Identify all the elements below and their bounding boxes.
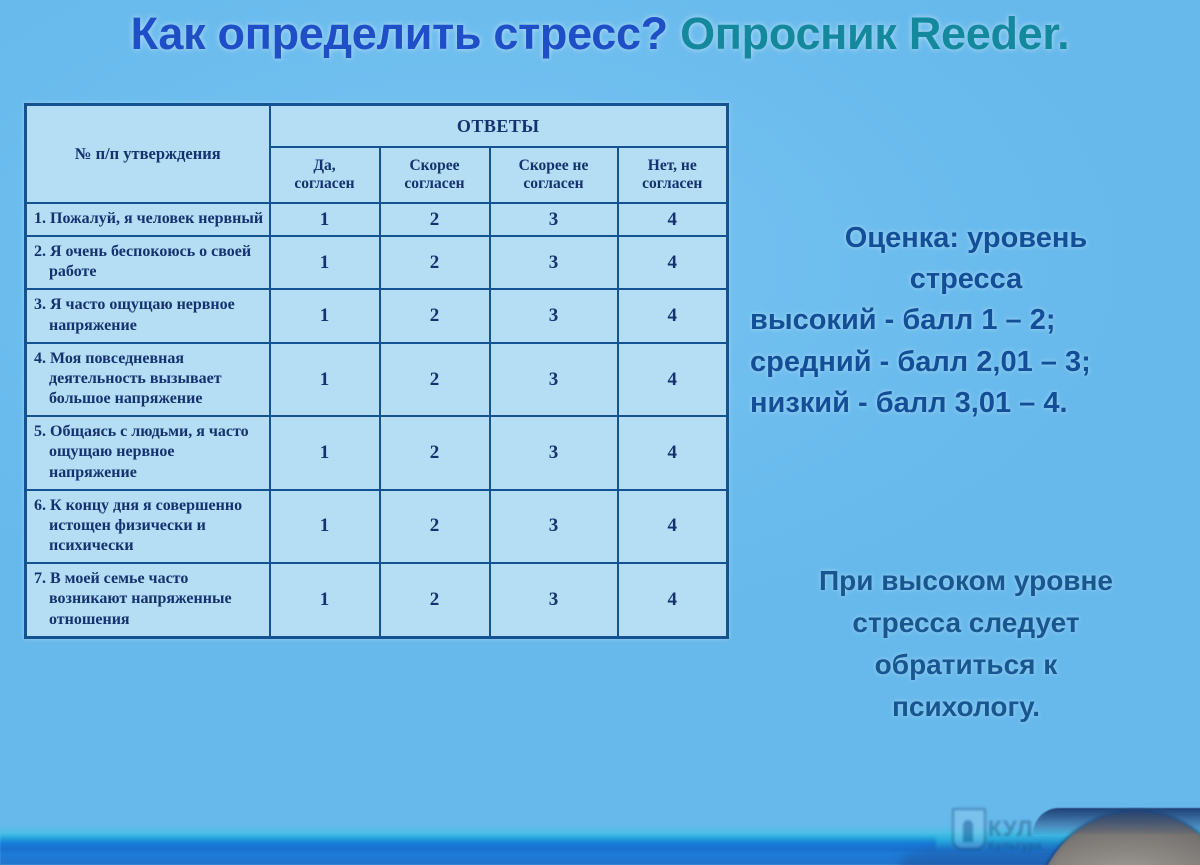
statement-cell: 7. В моей семье часто возникают напряжен… — [26, 563, 270, 637]
page-title: Как определить стресс? Опросник Reeder. — [0, 8, 1200, 60]
table-row: 7. В моей семье часто возникают напряжен… — [26, 563, 728, 637]
page-title-primary: Как определить стресс? — [131, 8, 680, 59]
statement-cell: 4. Моя повседневная деятельность вызывае… — [26, 343, 270, 416]
answer-value-cell: 4 — [618, 203, 728, 236]
answer-value-cell: 4 — [618, 236, 728, 289]
table-body: 1. Пожалуй, я человек нервный12342. Я оч… — [26, 203, 728, 637]
advice-line-2: стресса следует — [742, 602, 1190, 644]
answer-value-cell: 1 — [270, 563, 380, 637]
answer-value-cell: 2 — [380, 343, 490, 416]
header-statement-column: № п/п утверждения — [26, 105, 270, 204]
table-row: 2. Я очень беспокоюсь о своей работе1234 — [26, 236, 728, 289]
evaluation-panel: Оценка: уровень стресса высокий - балл 1… — [742, 218, 1190, 424]
evaluation-level-low: низкий - балл 3,01 – 4. — [742, 383, 1190, 424]
advice-line-1: При высоком уровне — [742, 560, 1190, 602]
table-row: 3. Я часто ощущаю нервное напряжение1234 — [26, 289, 728, 342]
answer-value-cell: 4 — [618, 289, 728, 342]
bottom-decorative-band-secondary — [0, 835, 936, 851]
watermark-subtext: Культура — [988, 840, 1042, 852]
page-title-secondary: Опросник Reeder. — [680, 8, 1069, 59]
statement-cell: 1. Пожалуй, я человек нервный — [26, 203, 270, 236]
answer-value-cell: 2 — [380, 563, 490, 637]
answer-value-cell: 2 — [380, 416, 490, 489]
answer-value-cell: 1 — [270, 490, 380, 563]
statement-cell: 2. Я очень беспокоюсь о своей работе — [26, 236, 270, 289]
header-answers-group: ОТВЕТЫ — [270, 105, 728, 148]
header-answer-col-1: Скорее согласен — [380, 147, 490, 203]
answer-value-cell: 1 — [270, 416, 380, 489]
answer-value-cell: 3 — [490, 289, 618, 342]
header-answer-col-1-line2: согласен — [404, 175, 464, 192]
header-answer-col-0-line1: Да, — [313, 157, 335, 174]
shield-icon — [952, 808, 986, 850]
header-answer-col-2-line1: Скорее не — [519, 157, 589, 174]
header-answer-col-0: Да, согласен — [270, 147, 380, 203]
answer-value-cell: 1 — [270, 203, 380, 236]
header-answer-col-2-line2: согласен — [523, 175, 583, 192]
answer-value-cell: 3 — [490, 236, 618, 289]
answer-value-cell: 1 — [270, 343, 380, 416]
table-header-row-group: № п/п утверждения ОТВЕТЫ — [26, 105, 728, 148]
statement-cell: 3. Я часто ощущаю нервное напряжение — [26, 289, 270, 342]
advice-line-4: психологу. — [742, 686, 1190, 728]
evaluation-level-medium: средний - балл 2,01 – 3; — [742, 342, 1190, 383]
answer-value-cell: 4 — [618, 343, 728, 416]
answer-value-cell: 3 — [490, 563, 618, 637]
statement-text: 6. К концу дня я совершенно истощен физи… — [34, 496, 265, 556]
table-row: 1. Пожалуй, я человек нервный1234 — [26, 203, 728, 236]
table-row: 4. Моя повседневная деятельность вызывае… — [26, 343, 728, 416]
header-answer-col-3: Нет, не согласен — [618, 147, 728, 203]
answer-value-cell: 3 — [490, 343, 618, 416]
advice-panel: При высоком уровне стресса следует обрат… — [742, 560, 1190, 728]
advice-line-3: обратиться к — [742, 644, 1190, 686]
header-answer-col-2: Скорее не согласен — [490, 147, 618, 203]
evaluation-heading-line1: Оценка: уровень — [742, 218, 1190, 259]
answer-value-cell: 1 — [270, 289, 380, 342]
slide-canvas: Как определить стресс? Опросник Reeder. … — [0, 0, 1200, 865]
evaluation-level-high: высокий - балл 1 – 2; — [742, 300, 1190, 341]
header-answer-col-0-line2: согласен — [294, 175, 354, 192]
answer-value-cell: 4 — [618, 416, 728, 489]
answer-value-cell: 1 — [270, 236, 380, 289]
watermark-text: КУЛ — [988, 816, 1033, 842]
statement-text: 3. Я часто ощущаю нервное напряжение — [34, 295, 265, 335]
answer-value-cell: 2 — [380, 236, 490, 289]
answer-value-cell: 4 — [618, 490, 728, 563]
statement-text: 4. Моя повседневная деятельность вызывае… — [34, 349, 265, 409]
header-answer-col-3-line2: согласен — [642, 175, 702, 192]
statement-text: 2. Я очень беспокоюсь о своей работе — [34, 242, 265, 282]
reeder-questionnaire-table: № п/п утверждения ОТВЕТЫ Да, согласен Ск… — [24, 103, 729, 639]
answer-value-cell: 3 — [490, 416, 618, 489]
answer-value-cell: 3 — [490, 203, 618, 236]
answer-value-cell: 4 — [618, 563, 728, 637]
answer-value-cell: 3 — [490, 490, 618, 563]
table-row: 5. Общаясь с людьми, я часто ощущаю нерв… — [26, 416, 728, 489]
answer-value-cell: 2 — [380, 203, 490, 236]
statement-text: 1. Пожалуй, я человек нервный — [34, 209, 265, 229]
statement-cell: 5. Общаясь с людьми, я часто ощущаю нерв… — [26, 416, 270, 489]
statement-text: 5. Общаясь с людьми, я часто ощущаю нерв… — [34, 422, 265, 482]
header-answer-col-1-line1: Скорее — [409, 157, 459, 174]
evaluation-heading-line2: стресса — [742, 259, 1190, 300]
answer-value-cell: 2 — [380, 490, 490, 563]
statement-cell: 6. К концу дня я совершенно истощен физи… — [26, 490, 270, 563]
answer-value-cell: 2 — [380, 289, 490, 342]
table-row: 6. К концу дня я совершенно истощен физи… — [26, 490, 728, 563]
header-answer-col-3-line1: Нет, не — [648, 157, 697, 174]
statement-text: 7. В моей семье часто возникают напряжен… — [34, 569, 265, 629]
